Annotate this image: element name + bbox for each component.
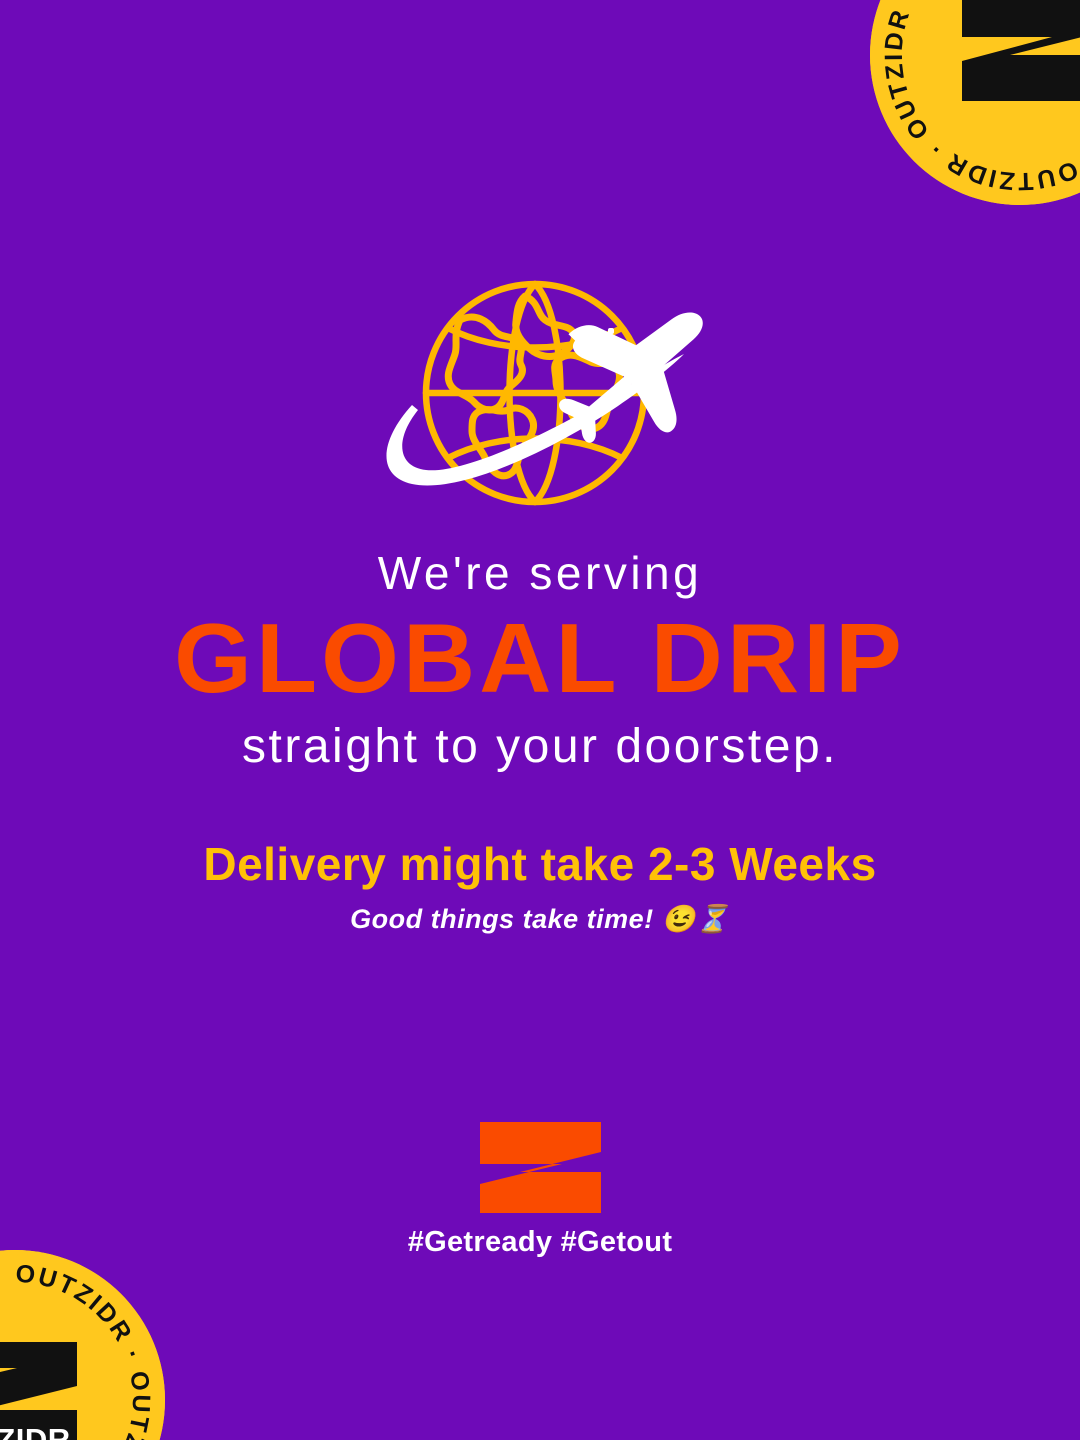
outzidr-z-logo (478, 1120, 603, 1215)
copy-block: We're serving GLOBAL DRIP straight to yo… (0, 548, 1080, 935)
line-doorstep: straight to your doorstep. (0, 719, 1080, 774)
headline-global-drip: GLOBAL DRIP (0, 607, 1080, 710)
hashtags: #Getready #Getout (0, 1226, 1080, 1259)
footer-block: #Getready #Getout (0, 1120, 1080, 1259)
globe-airplane-illustration (350, 270, 720, 520)
delivery-tagline: Good things take time! 😉⏳ (0, 903, 1080, 935)
outzidr-badge-bottom-left: OUTZIDR · OUTZIDR · OUTZIDR · OUTZIDR · … (0, 1250, 165, 1440)
line-serving: We're serving (0, 548, 1080, 599)
badge-wordmark: OUTZIDR (0, 1422, 71, 1440)
promo-poster: OUTZIDR · OUTZIDR · OUTZIDR · OUTZIDR · … (0, 0, 1080, 1440)
outzidr-badge-top-right: OUTZIDR · OUTZIDR · OUTZIDR · OUTZIDR · (870, 0, 1080, 205)
delivery-notice: Delivery might take 2-3 Weeks (0, 837, 1080, 891)
